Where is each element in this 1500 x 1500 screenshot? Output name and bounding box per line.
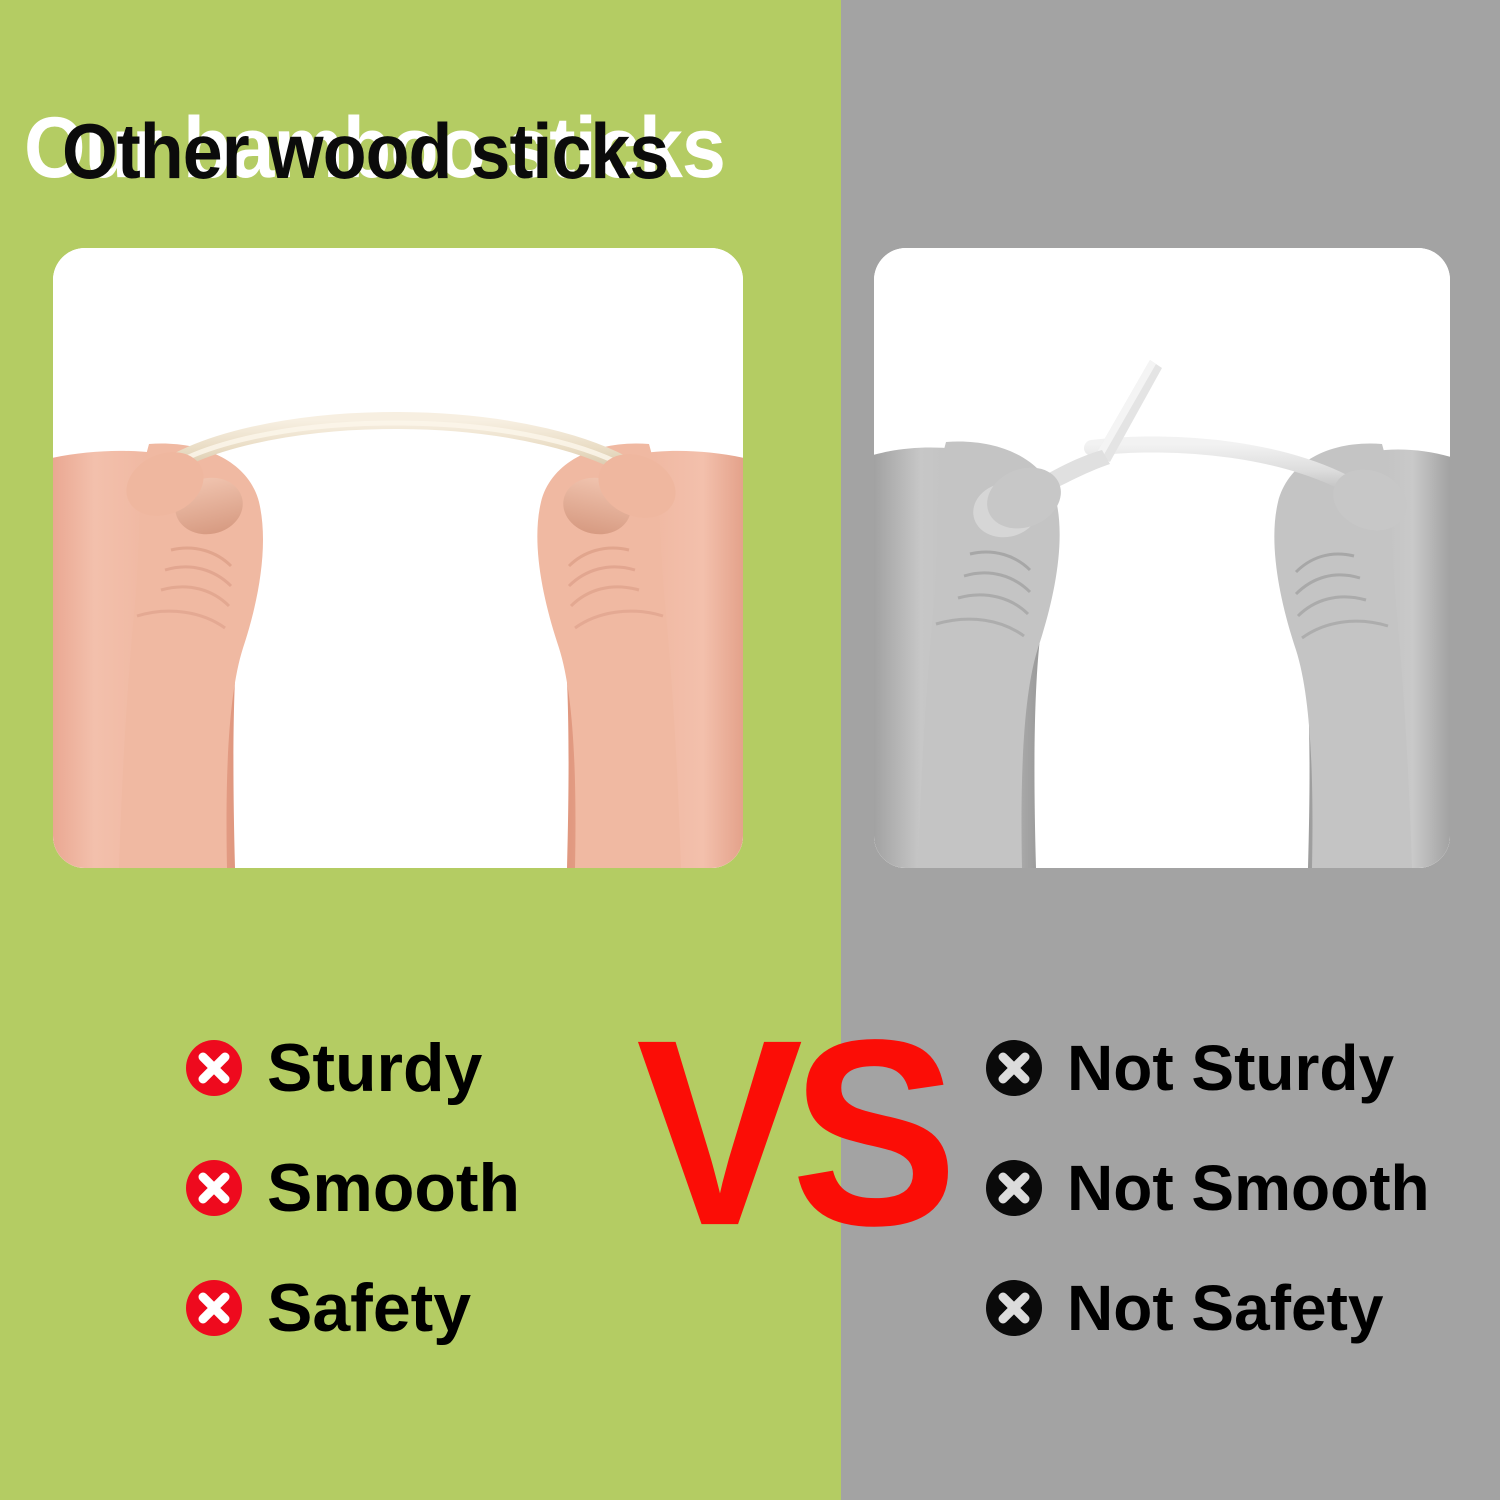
comparison-poster: Our bamboo sticks (0, 0, 1500, 1500)
feature-row: Not Sturdy (985, 1008, 1430, 1128)
feature-label: Not Smooth (1067, 1156, 1430, 1220)
feature-label: Not Sturdy (1067, 1036, 1394, 1100)
feature-label: Not Safety (1067, 1276, 1384, 1340)
red-circle-x-icon (185, 1039, 243, 1097)
feature-row: Not Smooth (985, 1128, 1430, 1248)
black-circle-x-icon (985, 1279, 1043, 1337)
black-circle-x-icon (985, 1159, 1043, 1217)
feature-row: Not Safety (985, 1248, 1430, 1368)
wood-stick-snap-photo (874, 248, 1450, 868)
feature-label: Smooth (267, 1154, 520, 1222)
feature-row: Safety (185, 1248, 520, 1368)
versus-label: VS (626, 1001, 956, 1266)
feature-label: Safety (267, 1274, 471, 1342)
red-circle-x-icon (185, 1159, 243, 1217)
bamboo-stick-bend-photo (53, 248, 743, 868)
black-circle-x-icon (985, 1039, 1043, 1097)
left-feature-list: Sturdy Smooth Safety (185, 1008, 520, 1368)
right-feature-list: Not Sturdy Not Smooth Not Safety (985, 1008, 1430, 1368)
feature-row: Smooth (185, 1128, 520, 1248)
feature-label: Sturdy (267, 1034, 482, 1102)
right-panel-title: Other wood sticks (62, 112, 668, 190)
red-circle-x-icon (185, 1279, 243, 1337)
right-product-photo-card (874, 248, 1450, 868)
left-product-photo-card (53, 248, 743, 868)
feature-row: Sturdy (185, 1008, 520, 1128)
